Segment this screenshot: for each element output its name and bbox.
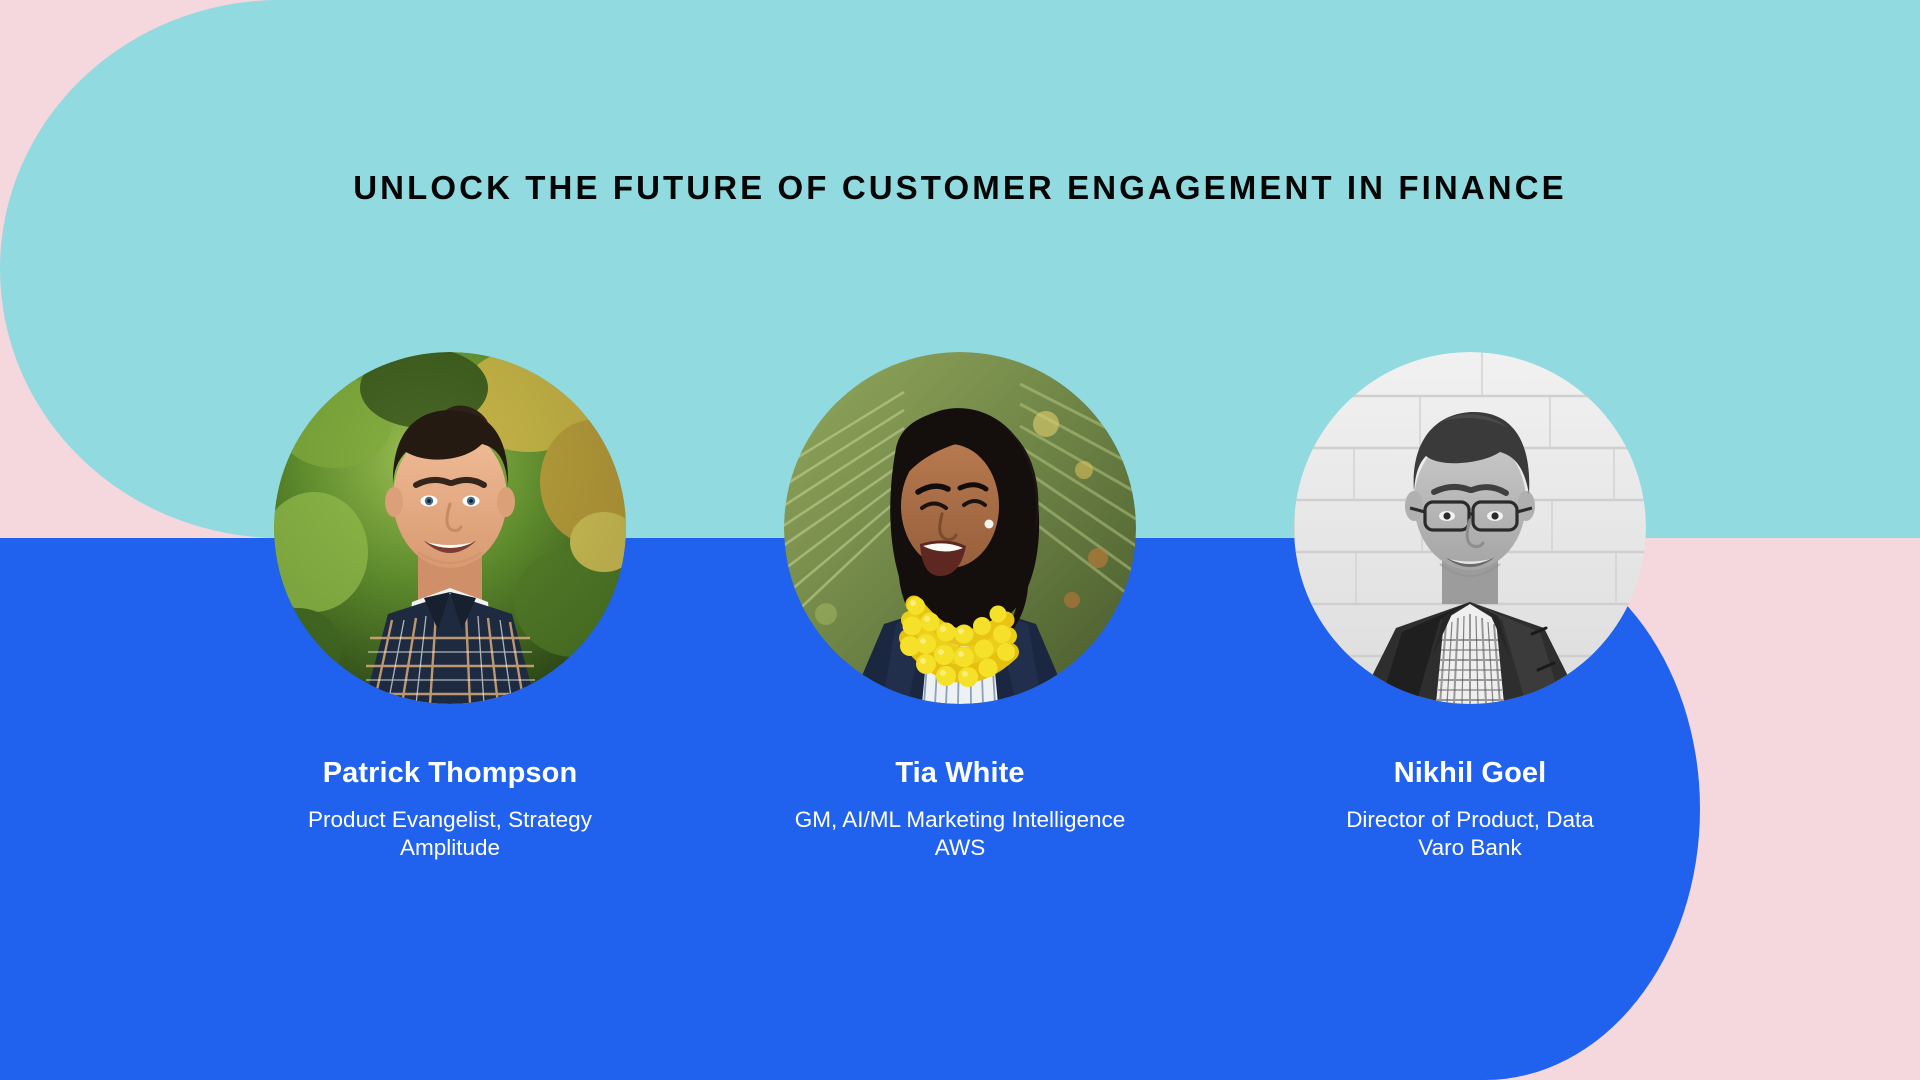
avatar-photo-patrick-thompson: [274, 352, 626, 704]
avatar: [1294, 352, 1646, 704]
speaker-role: GM, AI/ML Marketing Intelligence: [795, 806, 1126, 834]
speaker-list: Patrick Thompson Product Evangelist, Str…: [0, 352, 1920, 862]
speaker-role: Product Evangelist, Strategy: [308, 806, 592, 834]
speaker-name: Nikhil Goel: [1394, 756, 1547, 791]
speaker-company: Amplitude: [400, 834, 500, 862]
avatar-photo-tia-white: [784, 352, 1136, 704]
avatar: [784, 352, 1136, 704]
speaker-role: Director of Product, Data: [1346, 806, 1594, 834]
speaker-card: Patrick Thompson Product Evangelist, Str…: [274, 352, 626, 862]
page-title: UNLOCK THE FUTURE OF CUSTOMER ENGAGEMENT…: [0, 168, 1920, 208]
avatar-photo-nikhil-goel: [1294, 352, 1646, 704]
slide-canvas: UNLOCK THE FUTURE OF CUSTOMER ENGAGEMENT…: [0, 0, 1920, 1080]
avatar: [274, 352, 626, 704]
speaker-card: Tia White GM, AI/ML Marketing Intelligen…: [784, 352, 1136, 862]
speaker-company: Varo Bank: [1418, 834, 1521, 862]
speaker-name: Patrick Thompson: [323, 756, 578, 791]
speaker-name: Tia White: [895, 756, 1024, 791]
speaker-card: Nikhil Goel Director of Product, Data Va…: [1294, 352, 1646, 862]
speaker-company: AWS: [935, 834, 985, 862]
